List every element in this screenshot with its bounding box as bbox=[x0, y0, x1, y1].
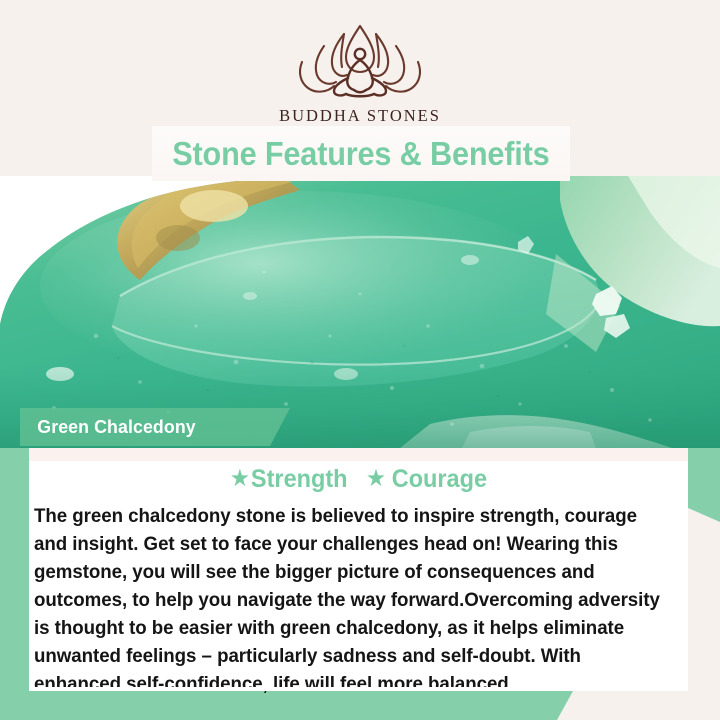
page-title: Stone Features & Benefits bbox=[172, 135, 549, 173]
star-icon: ★ bbox=[366, 467, 386, 491]
content-panel: ★ Strength ★ Courage The green chalcedon… bbox=[29, 448, 688, 691]
keyword-courage-label: Courage bbox=[392, 465, 487, 494]
brand-name: BUDDHA STONES bbox=[279, 106, 441, 126]
title-plate: Stone Features & Benefits bbox=[152, 126, 570, 181]
content-top-divider bbox=[29, 448, 688, 461]
keyword-courage: ★ Courage bbox=[366, 465, 487, 494]
keyword-strength-label: Strength bbox=[251, 465, 348, 494]
keywords-row: ★ Strength ★ Courage bbox=[29, 465, 688, 494]
description-paragraph: The green chalcedony stone is believed t… bbox=[34, 503, 663, 699]
lotus-meditation-icon bbox=[284, 22, 436, 100]
photo-caption-banner: Green Chalcedony bbox=[20, 408, 290, 446]
infographic-poster: Green Chalcedony bbox=[0, 0, 720, 720]
star-icon: ★ bbox=[230, 467, 250, 491]
keyword-strength: ★ Strength bbox=[230, 465, 348, 494]
stone-photo bbox=[0, 176, 720, 448]
photo-caption-text: Green Chalcedony bbox=[20, 416, 196, 438]
brand-logo: BUDDHA STONES bbox=[0, 22, 720, 126]
content-bottom-edge bbox=[29, 687, 688, 691]
